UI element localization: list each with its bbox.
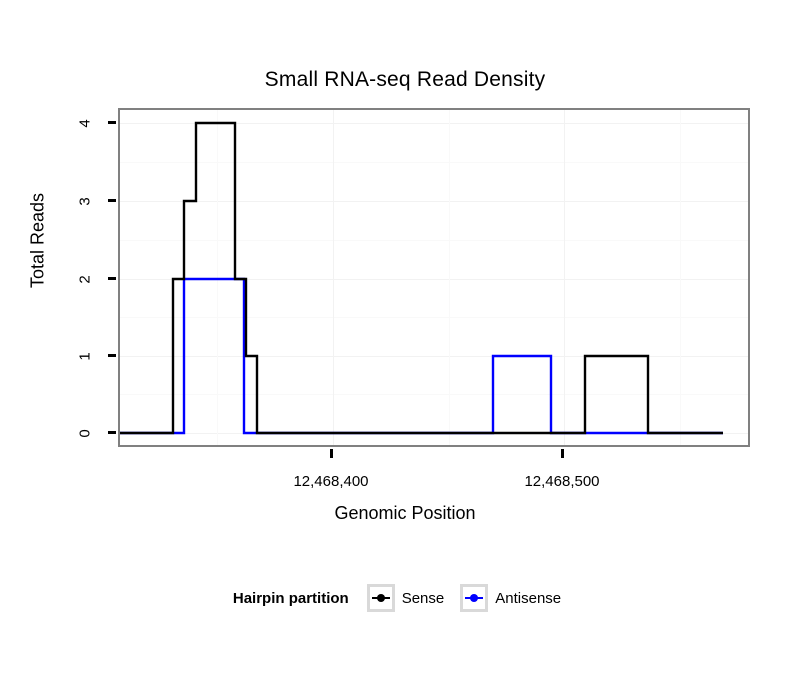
- y-tick-text: 1: [77, 338, 94, 376]
- y-tick-text: 2: [77, 261, 94, 299]
- y-tick-label-2: 2: [66, 271, 104, 285]
- chart-page: Small RNA-seq Read Density Total Reads 4…: [0, 0, 810, 690]
- legend-label-sense: Sense: [402, 590, 445, 607]
- legend-key-sense: [367, 584, 395, 612]
- y-tick-mark-4: [108, 121, 116, 124]
- chart-title: Small RNA-seq Read Density: [0, 68, 810, 92]
- x-axis-title: Genomic Position: [0, 503, 810, 524]
- y-tick-mark-2: [108, 277, 116, 280]
- y-tick-mark-1: [108, 354, 116, 357]
- x-tick-mark-2: [561, 449, 564, 458]
- y-tick-label-4: 4: [66, 115, 104, 129]
- legend-label-antisense: Antisense: [495, 590, 561, 607]
- plot-panel: [118, 108, 750, 447]
- y-tick-text: 0: [77, 415, 94, 453]
- y-tick-label-0: 0: [66, 425, 104, 439]
- legend-item-antisense[interactable]: Antisense: [460, 584, 561, 612]
- legend-point-icon: [470, 594, 478, 602]
- y-axis-title: Total Reads: [28, 151, 49, 331]
- legend: Hairpin partition Sense Antisense: [0, 584, 810, 612]
- y-tick-text: 4: [77, 105, 94, 143]
- legend-point-icon: [377, 594, 385, 602]
- y-tick-text: 3: [77, 183, 94, 221]
- legend-item-sense[interactable]: Sense: [367, 584, 445, 612]
- y-tick-label-3: 3: [66, 193, 104, 207]
- series-layer: [120, 110, 748, 445]
- x-tick-label-2: 12,468,500: [482, 473, 642, 490]
- x-tick-mark-1: [330, 449, 333, 458]
- y-tick-mark-3: [108, 199, 116, 202]
- x-tick-label-1: 12,468,400: [251, 473, 411, 490]
- legend-title: Hairpin partition: [233, 590, 349, 607]
- y-tick-label-1: 1: [66, 348, 104, 362]
- y-tick-mark-0: [108, 431, 116, 434]
- plot-area: [120, 110, 748, 445]
- legend-key-antisense: [460, 584, 488, 612]
